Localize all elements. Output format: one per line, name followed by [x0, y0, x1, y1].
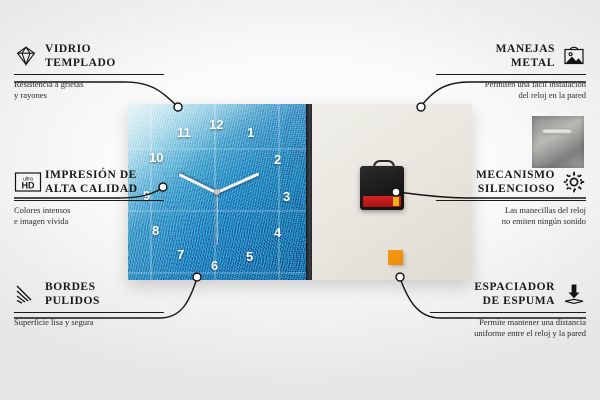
clock-numeral-6: 6	[211, 259, 218, 272]
feature-description: Permiten una fácil instalación del reloj…	[436, 79, 586, 101]
feature-bordes-pulidos[interactable]: BORDES PULIDOS Superficie lisa y segura	[14, 280, 164, 328]
battery-cap	[393, 197, 399, 206]
picture-frame-icon	[562, 44, 586, 68]
clock-numeral-4: 4	[274, 226, 281, 239]
feature-vidrio-templado[interactable]: VIDRIO TEMPLADO Resistencia a grietas y …	[14, 42, 164, 101]
infographic-canvas: 12 1 2 3 4 5 6 7 8 9 10 11	[0, 0, 600, 400]
feature-title: MECANISMO SILENCIOSO	[476, 168, 555, 196]
mechanism-hanging-loop	[373, 160, 395, 171]
feature-description: Las manecillas del reloj no emiten ningú…	[436, 205, 586, 227]
svg-text:HD: HD	[22, 181, 35, 191]
diagonal-lines-icon	[14, 282, 38, 306]
battery	[363, 196, 401, 207]
clock-numeral-2: 2	[274, 153, 281, 166]
ultra-hd-icon: ultra HD	[14, 170, 38, 194]
diamond-icon	[14, 44, 38, 68]
feature-espaciador-espuma[interactable]: ESPACIADOR DE ESPUMA Permite mantener un…	[430, 280, 586, 339]
feature-title: MANEJAS METAL	[496, 42, 555, 70]
title-rule	[436, 74, 586, 75]
feature-title: IMPRESIÓN DE ALTA CALIDAD	[45, 168, 138, 196]
feature-title: BORDES PULIDOS	[45, 280, 100, 308]
product-image: 12 1 2 3 4 5 6 7 8 9 10 11	[128, 104, 472, 280]
feature-title: ESPACIADOR DE ESPUMA	[474, 280, 555, 308]
hanger-slot	[542, 128, 572, 135]
metal-hanger-plate	[532, 116, 584, 168]
clock-hands-hub	[214, 189, 220, 195]
gear-icon	[562, 170, 586, 194]
arrow-down-platform-icon	[562, 282, 586, 306]
feature-description: Resistencia a grietas y rayones	[14, 79, 164, 101]
feature-description: Colores intensos e imagen vívida	[14, 205, 164, 227]
clock-hand-second	[216, 193, 217, 245]
title-rule	[14, 74, 164, 75]
feature-manejas-metal[interactable]: MANEJAS METAL Permiten una fácil instala…	[436, 42, 586, 101]
title-rule	[14, 200, 164, 201]
feature-impresion-alta-calidad[interactable]: ultra HD IMPRESIÓN DE ALTA CALIDAD Color…	[14, 168, 164, 227]
clock-numeral-11: 11	[177, 126, 191, 139]
title-rule	[436, 200, 586, 201]
clock-numeral-3: 3	[283, 190, 290, 203]
clock-numeral-5: 5	[246, 250, 253, 263]
clock-numeral-1: 1	[247, 126, 254, 139]
clock-numeral-10: 10	[149, 151, 163, 164]
feature-mecanismo-silencioso[interactable]: MECANISMO SILENCIOSO Las manecillas del …	[436, 168, 586, 227]
feature-description: Permite mantener una distancia uniforme …	[430, 317, 586, 339]
feature-description: Superficie lisa y segura	[14, 317, 164, 328]
clock-numeral-12: 12	[209, 118, 223, 131]
feature-title: VIDRIO TEMPLADO	[45, 42, 116, 70]
title-rule	[430, 312, 586, 313]
clock-numeral-7: 7	[177, 248, 184, 261]
quartz-mechanism	[360, 166, 404, 210]
foam-spacer	[388, 250, 403, 265]
title-rule	[14, 312, 164, 313]
